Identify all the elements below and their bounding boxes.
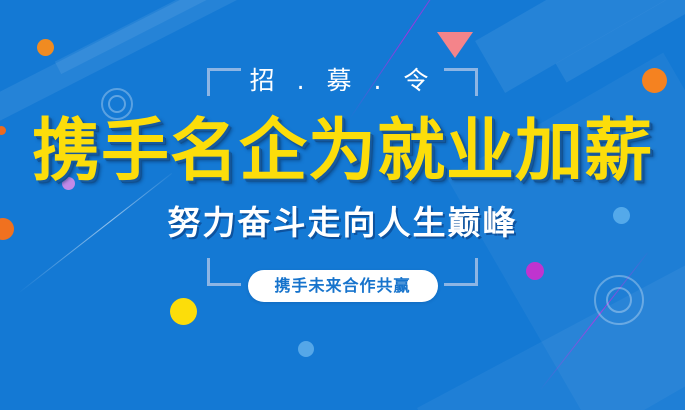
pink-triangle-down-icon — [437, 32, 473, 58]
light-streak-top-left-1 — [0, 0, 372, 126]
bracket-bottom-left — [207, 258, 241, 286]
slogan-pill-label: 携手未来合作共赢 — [274, 278, 410, 294]
yellow-dot-bottom-left — [170, 298, 197, 325]
slogan-pill-button[interactable]: 携手未来合作共赢 — [248, 270, 438, 302]
blue-dot-bottom-mid — [298, 341, 314, 357]
ring-right-icon — [594, 275, 644, 325]
hairline-purple-bottom — [539, 252, 648, 391]
ring-top-left-inner — [108, 95, 126, 113]
hairline-purple-top — [349, 0, 479, 119]
page-title: 携手名企为就业加薪 — [0, 118, 685, 186]
ring-right-inner — [606, 287, 632, 313]
subtitle-text: 努力奋斗走向人生巅峰 — [0, 206, 685, 239]
eyebrow-text: 招 . 募 . 令 — [0, 68, 685, 93]
orange-dot-top-left — [37, 39, 54, 56]
recruitment-banner: 招 . 募 . 令 携手名企为就业加薪 努力奋斗走向人生巅峰 携手未来合作共赢 — [0, 0, 685, 410]
bracket-bottom-right — [444, 258, 478, 286]
light-streak-top-left-2 — [55, 0, 355, 74]
magenta-dot-right — [526, 262, 544, 280]
